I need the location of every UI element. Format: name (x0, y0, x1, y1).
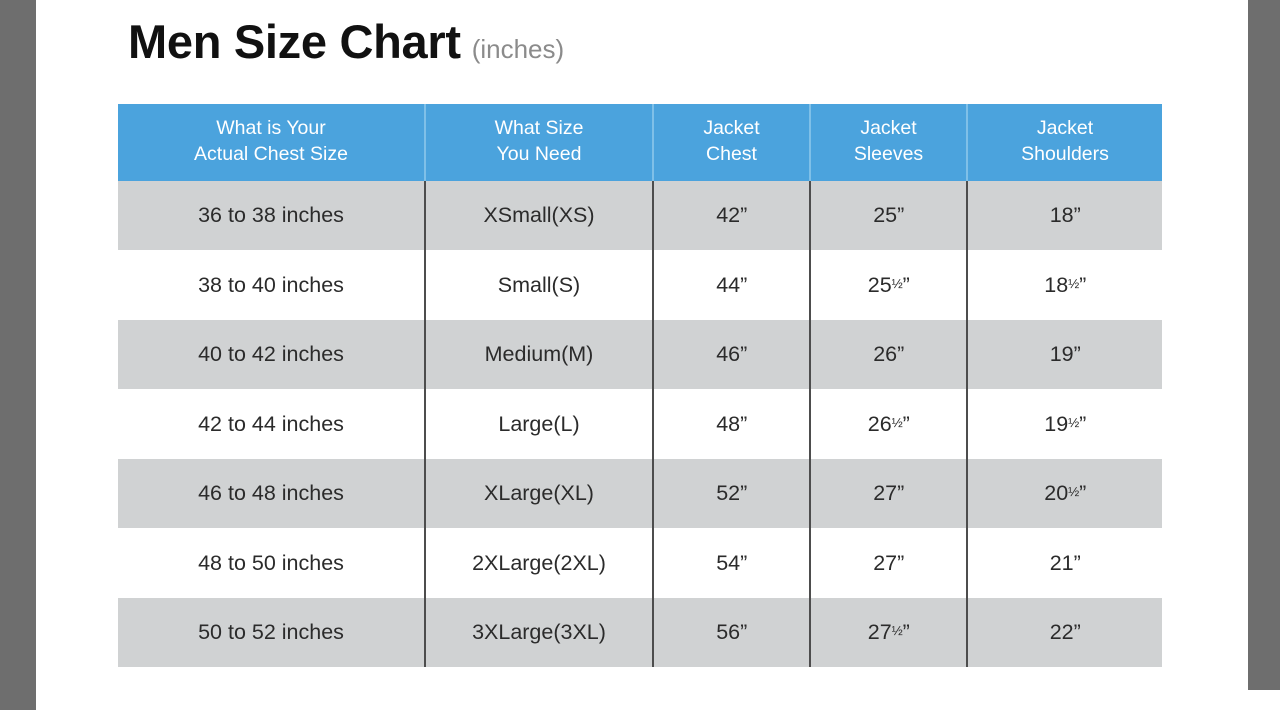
inch-mark: ” (740, 412, 747, 436)
letterbox-bar-right (1248, 0, 1280, 710)
value-number: 22 (1050, 620, 1074, 644)
table-row: 48 to 50 inches 2XLarge(2XL) 54” 27” 21” (118, 528, 1162, 598)
column-header-line2: Actual Chest Size (122, 142, 420, 168)
table-header: What is Your Actual Chest Size What Size… (118, 104, 1162, 181)
value-number: 18 (1050, 203, 1074, 227)
cell-actual-chest: 48 to 50 inches (118, 528, 425, 598)
size-chart-table: What is Your Actual Chest Size What Size… (118, 104, 1162, 667)
inch-mark: ” (740, 203, 747, 227)
value-number: 27 (868, 620, 892, 644)
cell-actual-chest: 36 to 38 inches (118, 181, 425, 251)
value-number: 20 (1044, 481, 1068, 505)
value-fraction: ½ (1068, 276, 1079, 291)
value-number: 18 (1044, 273, 1068, 297)
inch-mark: ” (1074, 551, 1081, 575)
size-chart-container: What is Your Actual Chest Size What Size… (118, 104, 1162, 667)
cell-size-needed: 2XLarge(2XL) (425, 528, 653, 598)
inch-mark: ” (1074, 620, 1081, 644)
value-number: 26 (873, 342, 897, 366)
column-header-line2: Sleeves (815, 142, 962, 168)
inch-mark: ” (740, 551, 747, 575)
cell-jacket-chest: 54” (653, 528, 810, 598)
cell-jacket-shoulders: 21” (967, 528, 1162, 598)
value-fraction: ½ (1068, 484, 1079, 499)
table-row: 36 to 38 inches XSmall(XS) 42” 25” 18” (118, 181, 1162, 251)
cell-jacket-sleeves: 26” (810, 320, 967, 390)
cell-jacket-shoulders: 19½” (967, 389, 1162, 459)
inch-mark: ” (740, 620, 747, 644)
cell-jacket-chest: 44” (653, 250, 810, 320)
cell-jacket-shoulders: 19” (967, 320, 1162, 390)
table-row: 50 to 52 inches 3XLarge(3XL) 56” 27½” 22… (118, 598, 1162, 668)
value-fraction: ½ (1068, 415, 1079, 430)
column-header-actual-chest-size: What is Your Actual Chest Size (118, 104, 425, 181)
inch-mark: ” (740, 273, 747, 297)
column-header-line1: Jacket (815, 116, 962, 142)
inch-mark: ” (1074, 342, 1081, 366)
cell-size-needed: 3XLarge(3XL) (425, 598, 653, 668)
column-header-jacket-chest: Jacket Chest (653, 104, 810, 181)
value-number: 26 (868, 412, 892, 436)
value-number: 19 (1050, 342, 1074, 366)
cell-jacket-sleeves: 26½” (810, 389, 967, 459)
letterbox-bar-left (0, 0, 36, 710)
value-number: 27 (873, 551, 897, 575)
inch-mark: ” (903, 273, 910, 297)
cell-jacket-shoulders: 20½” (967, 459, 1162, 529)
cell-size-needed: Large(L) (425, 389, 653, 459)
cell-jacket-chest: 46” (653, 320, 810, 390)
cell-jacket-sleeves: 25” (810, 181, 967, 251)
inch-mark: ” (1079, 273, 1086, 297)
inch-mark: ” (903, 620, 910, 644)
value-number: 56 (716, 620, 740, 644)
cell-jacket-sleeves: 25½” (810, 250, 967, 320)
cell-actual-chest: 42 to 44 inches (118, 389, 425, 459)
inch-mark: ” (1079, 481, 1086, 505)
inch-mark: ” (897, 342, 904, 366)
column-header-jacket-shoulders: Jacket Shoulders (967, 104, 1162, 181)
inch-mark: ” (740, 481, 747, 505)
table-row: 38 to 40 inches Small(S) 44” 25½” 18½” (118, 250, 1162, 320)
inch-mark: ” (897, 551, 904, 575)
inch-mark: ” (903, 412, 910, 436)
cell-size-needed: XSmall(XS) (425, 181, 653, 251)
column-header-line1: What is Your (122, 116, 420, 142)
page-title: Men Size Chart (inches) (128, 18, 564, 65)
value-fraction: ½ (892, 623, 903, 638)
cell-actual-chest: 40 to 42 inches (118, 320, 425, 390)
table-row: 40 to 42 inches Medium(M) 46” 26” 19” (118, 320, 1162, 390)
cell-jacket-shoulders: 18” (967, 181, 1162, 251)
cell-jacket-chest: 56” (653, 598, 810, 668)
cell-jacket-shoulders: 22” (967, 598, 1162, 668)
cell-actual-chest: 46 to 48 inches (118, 459, 425, 529)
cell-size-needed: Small(S) (425, 250, 653, 320)
value-number: 19 (1044, 412, 1068, 436)
cell-jacket-shoulders: 18½” (967, 250, 1162, 320)
inch-mark: ” (897, 481, 904, 505)
table-row: 46 to 48 inches XLarge(XL) 52” 27” 20½” (118, 459, 1162, 529)
table-body: 36 to 38 inches XSmall(XS) 42” 25” 18” 3… (118, 181, 1162, 668)
value-number: 42 (716, 203, 740, 227)
cell-jacket-chest: 52” (653, 459, 810, 529)
column-header-line2: Chest (658, 142, 805, 168)
slide-stage: Men Size Chart (inches) What is Your Act… (0, 0, 1280, 710)
value-number: 54 (716, 551, 740, 575)
table-header-row: What is Your Actual Chest Size What Size… (118, 104, 1162, 181)
value-number: 44 (716, 273, 740, 297)
cell-jacket-sleeves: 27” (810, 459, 967, 529)
cell-jacket-chest: 48” (653, 389, 810, 459)
value-number: 21 (1050, 551, 1074, 575)
page-title-unit: (inches) (472, 36, 564, 62)
value-number: 52 (716, 481, 740, 505)
page-bottom-margin (72, 690, 1280, 710)
column-header-line1: Jacket (972, 116, 1158, 142)
cell-jacket-sleeves: 27½” (810, 598, 967, 668)
value-fraction: ½ (892, 415, 903, 430)
column-header-size-you-need: What Size You Need (425, 104, 653, 181)
value-number: 25 (868, 273, 892, 297)
column-header-line1: Jacket (658, 116, 805, 142)
inch-mark: ” (1074, 203, 1081, 227)
cell-jacket-chest: 42” (653, 181, 810, 251)
inch-mark: ” (1079, 412, 1086, 436)
column-header-line2: You Need (430, 142, 648, 168)
table-row: 42 to 44 inches Large(L) 48” 26½” 19½” (118, 389, 1162, 459)
cell-jacket-sleeves: 27” (810, 528, 967, 598)
column-header-jacket-sleeves: Jacket Sleeves (810, 104, 967, 181)
inch-mark: ” (897, 203, 904, 227)
value-number: 46 (716, 342, 740, 366)
value-number: 48 (716, 412, 740, 436)
value-number: 25 (873, 203, 897, 227)
cell-actual-chest: 50 to 52 inches (118, 598, 425, 668)
column-header-line1: What Size (430, 116, 648, 142)
column-header-line2: Shoulders (972, 142, 1158, 168)
cell-actual-chest: 38 to 40 inches (118, 250, 425, 320)
value-fraction: ½ (892, 276, 903, 291)
cell-size-needed: XLarge(XL) (425, 459, 653, 529)
cell-size-needed: Medium(M) (425, 320, 653, 390)
slide-canvas: Men Size Chart (inches) What is Your Act… (36, 0, 1248, 710)
value-number: 27 (873, 481, 897, 505)
page-title-main: Men Size Chart (128, 18, 461, 65)
inch-mark: ” (740, 342, 747, 366)
